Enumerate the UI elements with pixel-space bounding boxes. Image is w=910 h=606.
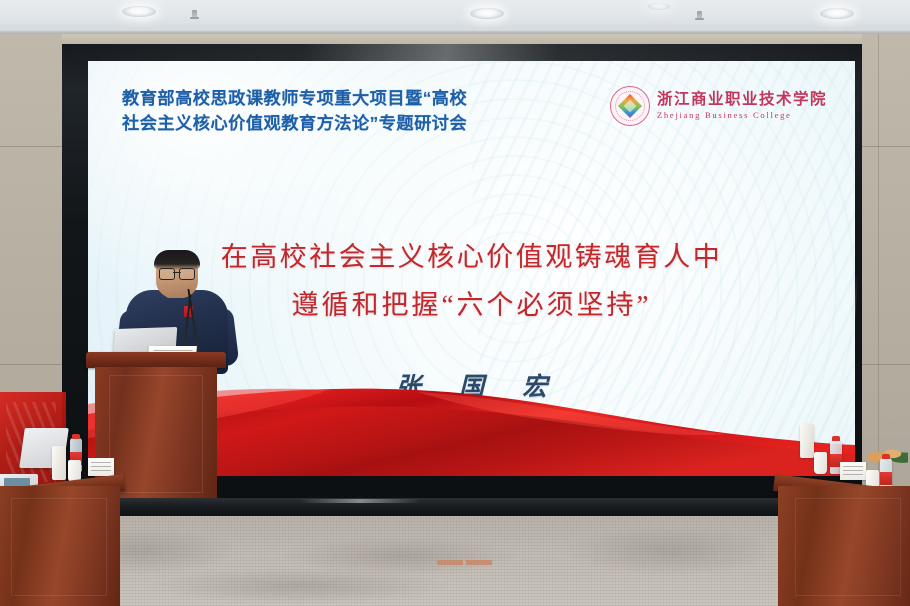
sprinkler-head — [697, 11, 702, 20]
wall-strip-above-screen — [62, 34, 862, 44]
ceiling-downlight — [648, 3, 670, 10]
podium-top-surface — [86, 352, 226, 368]
tall-cup — [800, 424, 814, 458]
ceiling-downlight — [122, 6, 156, 17]
tall-cup — [52, 446, 66, 480]
slide-headline-line1: 在高校社会主义核心价值观铸魂育人中 — [221, 242, 723, 272]
school-emblem-icon — [610, 86, 650, 126]
slide-header: 教育部高校思政课教师专项重大项目暨“高校 社会主义核心价值观教育方法论”专题研讨… — [122, 86, 833, 142]
presenter-hair — [154, 250, 200, 270]
floor-marker-strip — [437, 560, 463, 565]
floor-marker-strip — [466, 560, 492, 565]
desk-front-left — [0, 486, 120, 606]
front-row-desk-left — [0, 426, 124, 606]
ceiling-downlight — [470, 8, 504, 19]
frame-glare — [62, 44, 862, 62]
school-logo: 浙江商业职业技术学院 Zhejiang Business College — [610, 86, 827, 126]
school-name-cn: 浙江商业职业技术学院 — [657, 92, 827, 108]
sprinkler-head — [192, 10, 197, 19]
front-row-desk-right — [774, 426, 910, 606]
name-card — [88, 458, 114, 476]
conference-photo-scene: 教育部高校思政课教师专项重大项目暨“高校 社会主义核心价值观教育方法论”专题研讨… — [0, 0, 910, 606]
stage-edge-highlight — [300, 499, 420, 503]
glasses-icon — [159, 268, 195, 278]
ceiling-downlight — [820, 8, 854, 19]
school-name-en: Zhejiang Business College — [657, 111, 827, 120]
paper-cup — [814, 452, 827, 474]
name-card — [840, 462, 866, 480]
desk-front-right — [778, 486, 910, 606]
slide-header-title: 教育部高校思政课教师专项重大项目暨“高校 社会主义核心价值观教育方法论”专题研讨… — [122, 86, 467, 136]
